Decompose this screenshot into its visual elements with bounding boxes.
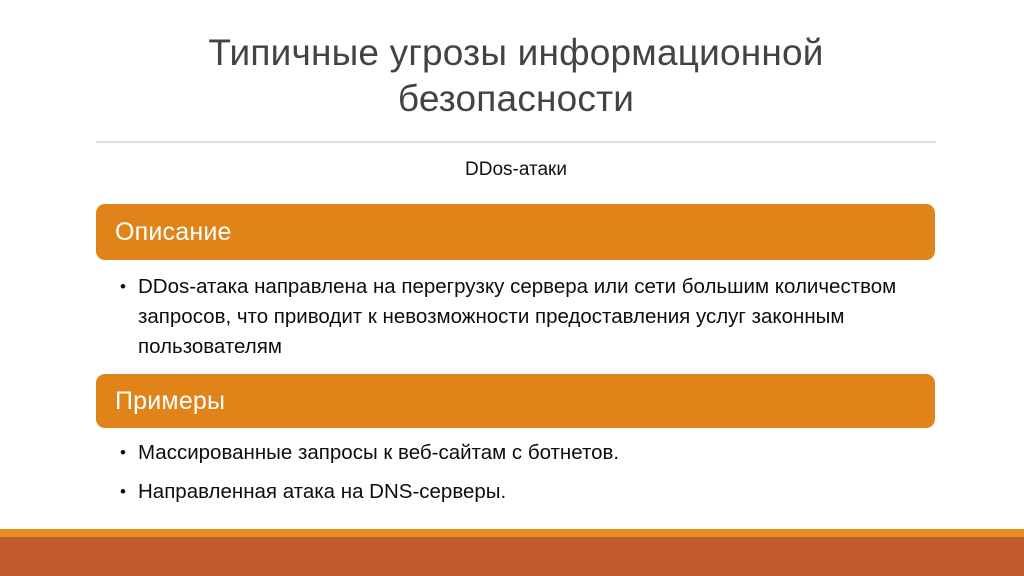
- slide: Типичные угрозы информационной безопасно…: [0, 0, 1024, 576]
- section-header-description: Описание: [96, 204, 935, 260]
- title-divider: [96, 141, 936, 143]
- page-title: Типичные угрозы информационной безопасно…: [96, 30, 936, 122]
- footer-band: [0, 537, 1024, 576]
- title-block: Типичные угрозы информационной безопасно…: [96, 30, 936, 122]
- list-item: Направленная атака на DNS-серверы.: [110, 477, 940, 507]
- section-header-examples-label: Примеры: [96, 387, 225, 416]
- footer-accent-strip: [0, 529, 1024, 537]
- bullet-list-description: DDos-атака направлена на перегрузку серв…: [110, 272, 940, 362]
- list-item: Массированные запросы к веб-сайтам с бот…: [110, 438, 940, 468]
- bullet-list-examples: Массированные запросы к веб-сайтам с бот…: [110, 438, 940, 516]
- section-header-description-label: Описание: [96, 218, 232, 247]
- slide-subtitle: DDos-атаки: [96, 158, 936, 182]
- list-item: DDos-атака направлена на перегрузку серв…: [110, 272, 940, 362]
- section-header-examples: Примеры: [96, 374, 935, 428]
